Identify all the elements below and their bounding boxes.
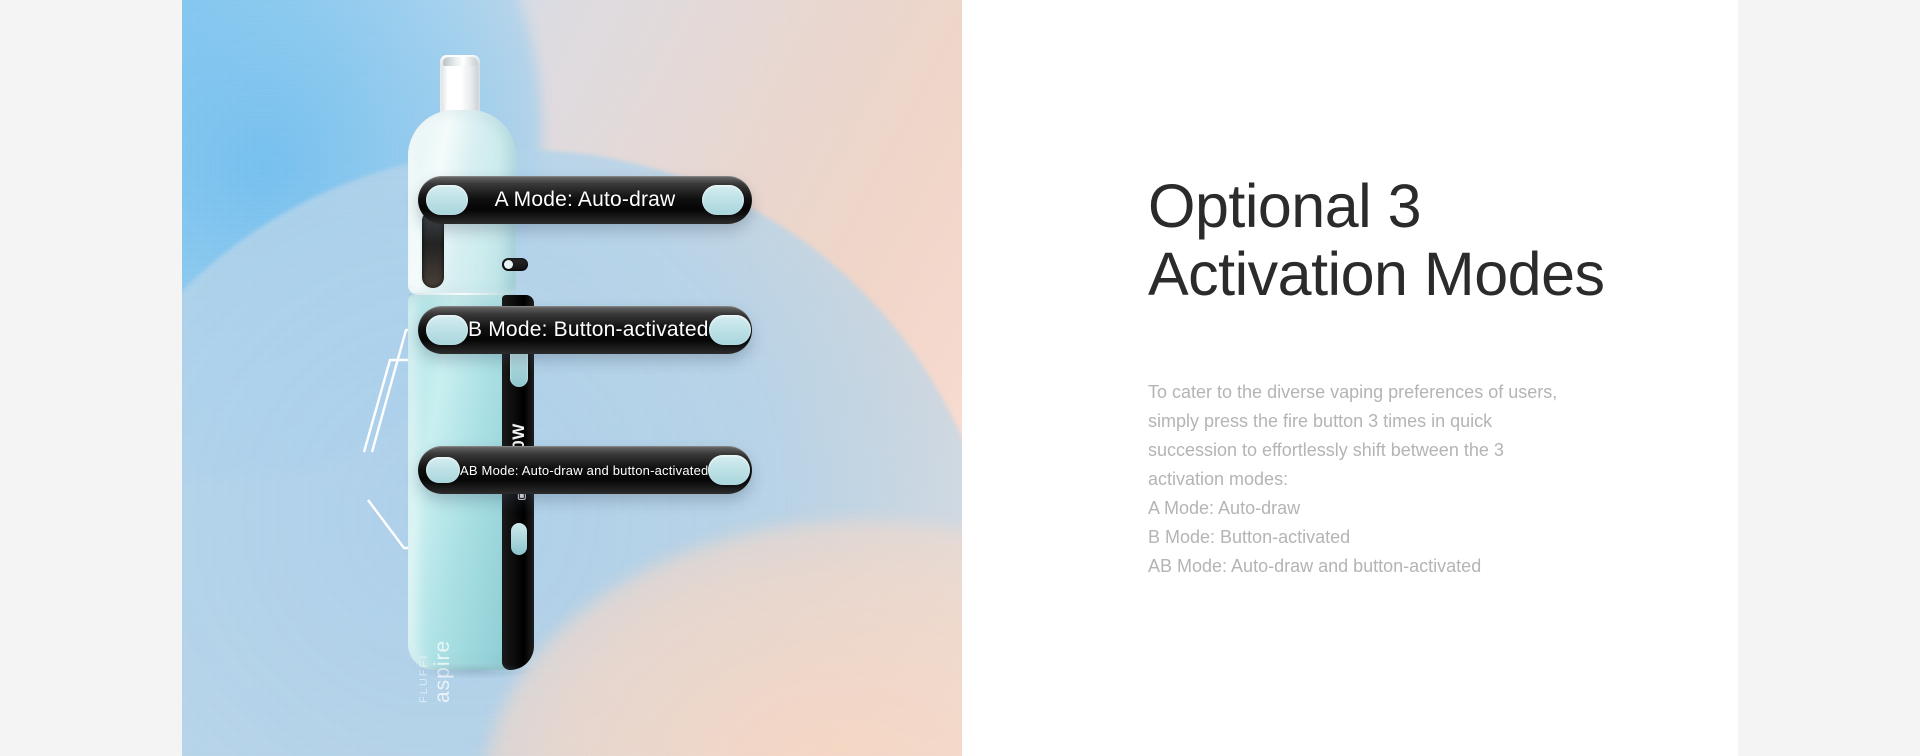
mode-list-item-b: B Mode: Button-activated [1148, 523, 1481, 552]
pill-label-mode-b: B Mode: Button-activated [468, 318, 709, 342]
page-title: Optional 3 Activation Modes [1148, 172, 1605, 309]
mode-list-item-ab: AB Mode: Auto-draw and button-activated [1148, 552, 1481, 581]
description-paragraph: To cater to the diverse vaping preferenc… [1148, 378, 1568, 495]
pill-left-cap-icon [426, 315, 468, 345]
pill-label-mode-a: A Mode: Auto-draw [468, 188, 702, 212]
pill-left-cap-icon [426, 457, 460, 483]
device-mouthpiece [440, 55, 480, 117]
pill-right-cap-icon [708, 455, 750, 485]
pill-label-mode-ab: AB Mode: Auto-draw and button-activated [460, 463, 708, 478]
mode-list-item-a: A Mode: Auto-draw [1148, 494, 1481, 523]
device-airflow-switch [502, 258, 528, 271]
mode-list: A Mode: Auto-draw B Mode: Button-activat… [1148, 494, 1481, 581]
callout-pill-mode-a: A Mode: Auto-draw [418, 176, 752, 224]
heading-line-2: Activation Modes [1148, 240, 1605, 308]
pill-left-cap-icon [426, 185, 468, 215]
page-root: aspire FLUFFI 9.99Ω 0.00V [0, 0, 1920, 756]
pill-right-cap-icon [709, 315, 751, 345]
callout-pill-mode-ab: AB Mode: Auto-draw and button-activated [418, 446, 752, 494]
content-card: aspire FLUFFI 9.99Ω 0.00V [182, 0, 1738, 756]
vape-device-image: aspire FLUFFI 9.99Ω 0.00V [402, 55, 612, 675]
device-adjust-button [511, 523, 527, 555]
pill-right-cap-icon [702, 185, 744, 215]
text-column: Optional 3 Activation Modes To cater to … [1148, 0, 1738, 756]
callout-pill-mode-b: B Mode: Button-activated [418, 306, 752, 354]
product-visual-panel: aspire FLUFFI 9.99Ω 0.00V [182, 0, 962, 756]
device-drop-shadow [412, 663, 536, 679]
heading-line-1: Optional 3 [1148, 172, 1421, 240]
